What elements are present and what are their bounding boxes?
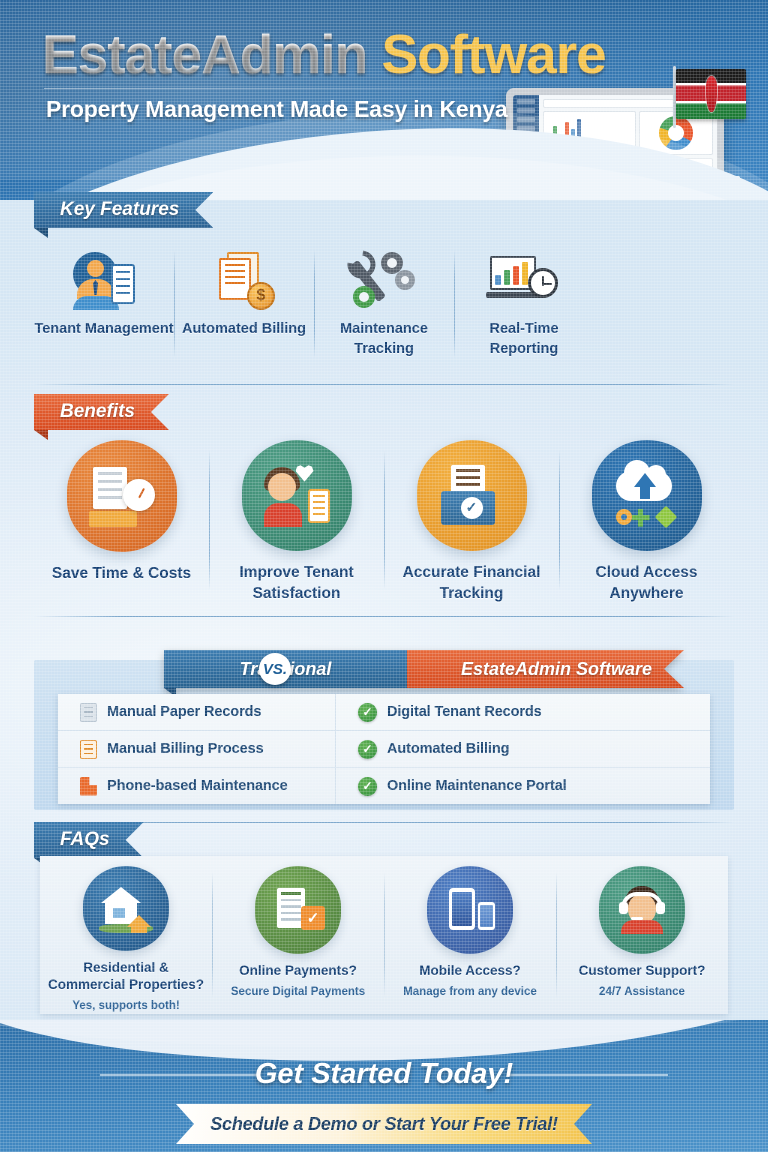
tenant-profile-icon [73, 252, 135, 310]
paper-document-icon [80, 703, 97, 722]
ribbon-fold-tab [34, 430, 48, 440]
comparison-header: Traditional EstateAdmin Software [164, 650, 684, 688]
comparison-section: Traditional EstateAdmin Software VS. Man… [34, 650, 734, 810]
verified-folder-icon: ✓ [439, 465, 505, 527]
faq-item-properties[interactable]: Residential & Commercial Properties? Yes… [40, 856, 212, 1014]
page-subtitle: Property Management Made Easy in Kenya [46, 96, 508, 123]
cta-banner-text: Schedule a Demo or Start Your Free Trial… [210, 1114, 558, 1135]
table-row: Phone-based Maintenance ✓ Online Mainten… [58, 768, 710, 804]
faq-question: Residential & Commercial Properties? [40, 960, 212, 994]
cloud-upload-icon [614, 465, 680, 527]
benefits-list: Save Time & Costs Improve Tenant Satisfa… [34, 440, 734, 605]
faq-icon-badge [599, 866, 685, 954]
table-row: Manual Billing Process ✓ Automated Billi… [58, 731, 710, 768]
benefit-icon-badge [242, 440, 352, 551]
cell-text: Manual Paper Records [107, 704, 261, 720]
page-title: EstateAdmin Software [42, 22, 606, 86]
benefit-label: Save Time & Costs [52, 564, 191, 585]
feature-item-maintenance-tracking[interactable]: Maintenance Tracking [314, 246, 454, 376]
table-cell-traditional: Phone-based Maintenance [58, 768, 336, 804]
feature-label: Automated Billing [182, 320, 306, 340]
table-cell-modern: ✓ Automated Billing [336, 731, 710, 767]
faq-icon-badge: ✓ [255, 866, 341, 954]
benefit-label: Cloud Access Anywhere [559, 563, 734, 605]
green-check-icon: ✓ [358, 703, 377, 722]
paper-invoice-icon [80, 740, 97, 759]
cell-text: Online Maintenance Portal [387, 778, 567, 794]
faq-icon-badge [427, 866, 513, 954]
faq-answer: Manage from any device [403, 986, 537, 1000]
section-banner-label: Key Features [60, 199, 179, 221]
section-banner-label: FAQs [60, 829, 110, 851]
feature-item-real-time-reporting[interactable]: Real-Time Reporting [454, 246, 594, 376]
benefit-item-tenant-satisfaction[interactable]: Improve Tenant Satisfaction [209, 440, 384, 605]
tablet-phone-icon [443, 886, 497, 934]
benefit-icon-badge: ✓ [417, 440, 527, 551]
vs-badge: VS. [259, 653, 291, 685]
house-buildings-icon [99, 885, 153, 933]
cta-banner-bold: Free Trial! [473, 1114, 558, 1134]
infographic-page: EstateAdmin Software Property Management… [0, 0, 768, 1152]
green-check-icon: ✓ [358, 777, 377, 796]
headset-agent-icon [615, 886, 669, 934]
section-divider [34, 616, 734, 617]
table-cell-traditional: Manual Paper Records [58, 694, 336, 730]
section-banner-benefits: Benefits [34, 394, 169, 430]
table-row: Manual Paper Records ✓ Digital Tenant Re… [58, 694, 710, 731]
faq-answer: Secure Digital Payments [231, 986, 365, 1000]
feature-item-automated-billing[interactable]: $ Automated Billing [174, 246, 314, 376]
cell-text: Manual Billing Process [107, 741, 264, 757]
faq-answer: 24/7 Assistance [599, 986, 685, 1000]
footer-cta-section: Get Started Today! Schedule a Demo or St… [0, 1020, 768, 1152]
faq-item-mobile-access[interactable]: Mobile Access? Manage from any device [384, 856, 556, 1014]
benefit-item-cloud-access[interactable]: Cloud Access Anywhere [559, 440, 734, 605]
invoice-dollar-icon: $ [213, 252, 275, 310]
section-banner-key-features: Key Features [34, 192, 213, 228]
benefit-item-save-time[interactable]: Save Time & Costs [34, 440, 209, 605]
feature-label: Tenant Management [34, 320, 173, 340]
green-check-icon: ✓ [358, 740, 377, 759]
benefit-label: Improve Tenant Satisfaction [209, 563, 384, 605]
table-cell-traditional: Manual Billing Process [58, 731, 336, 767]
title-accent: Software [381, 23, 605, 85]
feature-icon [353, 246, 415, 310]
title-primary: EstateAdmin [42, 23, 367, 85]
cell-text: Automated Billing [387, 741, 509, 757]
section-divider [34, 384, 734, 385]
feature-item-tenant-management[interactable]: Tenant Management [34, 246, 174, 376]
chart-clock-icon [490, 252, 558, 310]
feature-icon [490, 246, 558, 310]
cta-banner-lead: Schedule a Demo or Start Your [210, 1114, 473, 1134]
telephone-icon [80, 777, 97, 796]
comparison-table: Manual Paper Records ✓ Digital Tenant Re… [58, 694, 710, 804]
kenya-flag-icon [676, 66, 748, 124]
benefit-item-financial-tracking[interactable]: ✓ Accurate Financial Tracking [384, 440, 559, 605]
feature-label: Maintenance Tracking [314, 320, 454, 359]
title-underline [44, 88, 644, 89]
faq-question: Online Payments? [233, 963, 363, 980]
wrench-gears-icon [353, 252, 415, 310]
section-banner-label: Benefits [60, 401, 135, 423]
header-banner: EstateAdmin Software Property Management… [0, 0, 768, 200]
faq-answer: Yes, supports both! [72, 1000, 179, 1014]
table-cell-modern: ✓ Online Maintenance Portal [336, 768, 710, 804]
benefit-icon-badge [67, 440, 177, 552]
happy-tenant-icon [264, 465, 330, 527]
faq-list: Residential & Commercial Properties? Yes… [40, 856, 728, 1014]
key-features-list: Tenant Management $ Automated Billing Ma… [34, 246, 594, 376]
cell-text: Digital Tenant Records [387, 704, 542, 720]
document-stopwatch-icon [89, 465, 155, 527]
feature-icon [73, 246, 135, 310]
faq-question: Mobile Access? [413, 963, 527, 980]
comparison-header-modern: EstateAdmin Software [407, 650, 684, 688]
payment-document-check-icon: ✓ [271, 886, 325, 934]
benefit-label: Accurate Financial Tracking [384, 563, 559, 605]
ribbon-fold-tab [34, 228, 48, 238]
feature-icon: $ [213, 246, 275, 310]
benefit-icon-badge [592, 440, 702, 551]
feature-label: Real-Time Reporting [454, 320, 594, 359]
table-cell-modern: ✓ Digital Tenant Records [336, 694, 710, 730]
faq-item-customer-support[interactable]: Customer Support? 24/7 Assistance [556, 856, 728, 1014]
faq-question: Customer Support? [573, 963, 712, 980]
faq-item-online-payments[interactable]: ✓ Online Payments? Secure Digital Paymen… [212, 856, 384, 1014]
faq-icon-badge [83, 866, 169, 951]
cta-banner[interactable]: Schedule a Demo or Start Your Free Trial… [176, 1104, 592, 1144]
cell-text: Phone-based Maintenance [107, 778, 288, 794]
cta-headline: Get Started Today! [0, 1058, 768, 1091]
section-banner-faqs: FAQs [34, 822, 144, 858]
